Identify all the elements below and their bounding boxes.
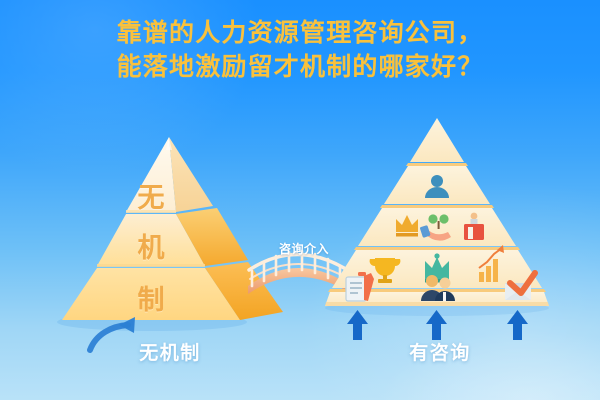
left-tier-char-2: 机 (131, 226, 171, 265)
title-line-2: 能落地激励留才机制的哪家好？ (0, 50, 600, 84)
right-tier-1 (410, 118, 464, 162)
up-arrow (347, 310, 368, 340)
infographic-canvas: 靠谱的人力资源管理咨询公司， 能落地激励留才机制的哪家好？ (0, 0, 600, 400)
left-tier-char-3: 制 (131, 278, 171, 317)
bridge-label: 咨询介入 (256, 240, 352, 257)
page-title: 靠谱的人力资源管理咨询公司， 能落地激励留才机制的哪家好？ (0, 16, 600, 84)
title-line-1: 靠谱的人力资源管理咨询公司， (0, 16, 600, 50)
right-pyramid-caption: 有咨询 (365, 338, 515, 365)
left-pyramid-caption: 无机制 (90, 338, 250, 365)
left-tier-char-1: 无 (131, 176, 171, 215)
up-arrow (507, 310, 528, 340)
